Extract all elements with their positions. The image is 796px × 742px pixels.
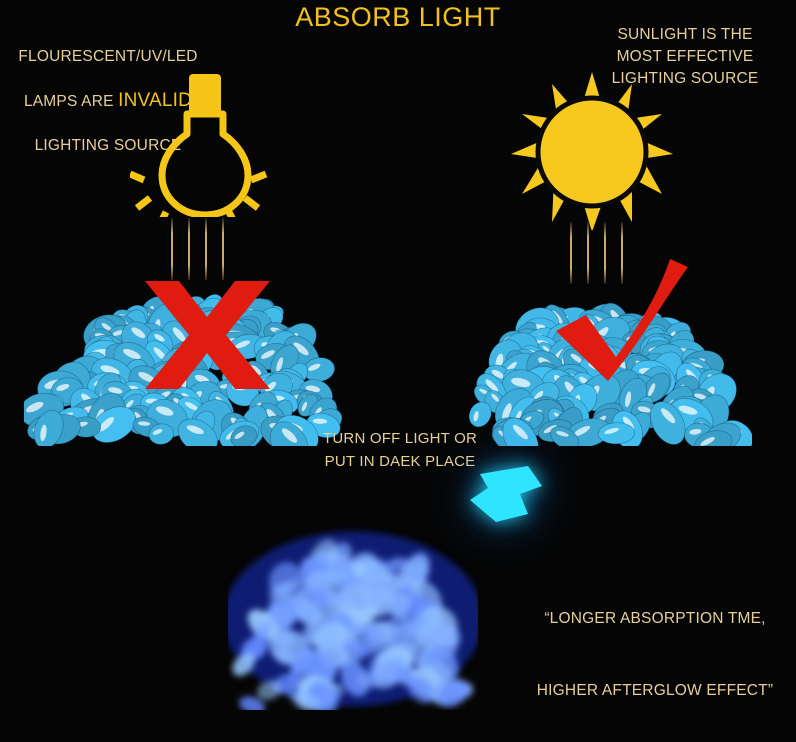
light-rays-icon-left bbox=[171, 218, 233, 280]
sun-icon bbox=[510, 70, 675, 230]
caption-quote-line2: HIGHER AFTERGLOW EFFECT” bbox=[525, 673, 785, 709]
caption-quote-line1: “LONGER ABSORPTION TME, bbox=[525, 601, 785, 637]
cyan-arrow-icon bbox=[466, 464, 544, 526]
infographic-canvas: ABSORB LIGHT FLOURESCENT/UV/LED LAMPS AR… bbox=[0, 0, 796, 742]
red-x-icon bbox=[145, 281, 270, 389]
caption-left-line1: FLOURESCENT/UV/LED bbox=[8, 46, 208, 68]
red-check-icon bbox=[552, 253, 692, 381]
caption-left-line2-prefix: LAMPS ARE bbox=[24, 93, 118, 110]
glowing-blue-pebble-pile bbox=[228, 520, 478, 710]
caption-quote: “LONGER ABSORPTION TME, HIGHER AFTERGLOW… bbox=[525, 565, 785, 742]
light-bulb-icon bbox=[130, 72, 280, 217]
